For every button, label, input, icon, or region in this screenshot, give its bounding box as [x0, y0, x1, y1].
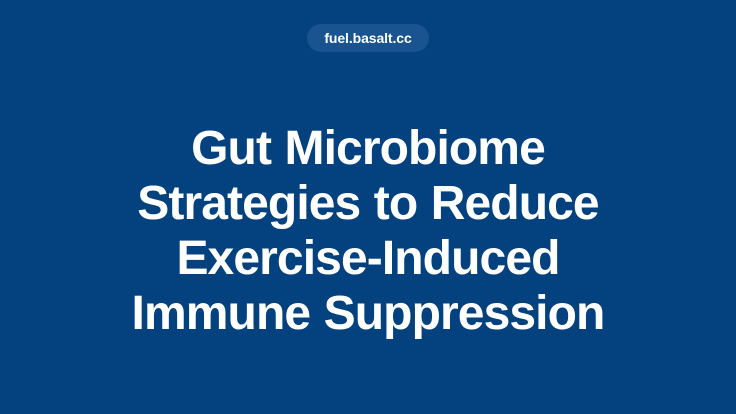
- headline-container: Gut Microbiome Strategies to Reduce Exer…: [0, 0, 736, 414]
- title-line-2: Strategies to Reduce: [48, 176, 688, 231]
- page-title: Gut Microbiome Strategies to Reduce Exer…: [48, 121, 688, 341]
- title-line-3: Exercise-Induced: [48, 231, 688, 286]
- title-line-4: Immune Suppression: [48, 286, 688, 341]
- social-share-card: fuel.basalt.cc Gut Microbiome Strategies…: [0, 0, 736, 414]
- title-line-1: Gut Microbiome: [48, 121, 688, 176]
